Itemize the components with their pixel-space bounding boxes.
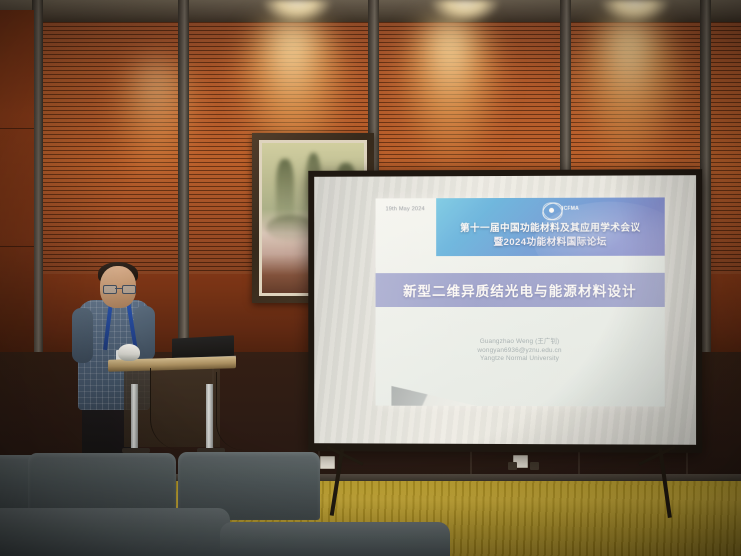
wall-socket-dark-1 xyxy=(508,462,517,470)
icfma-orbit-logo: ICFMA xyxy=(540,202,578,220)
lectern-leg-right xyxy=(206,384,213,450)
wall-light-pool-4 xyxy=(108,60,204,180)
sofa-seat-front-left xyxy=(0,508,230,556)
conference-banner-line1: 第十一届中国功能材料及其应用学术会议 xyxy=(436,220,665,235)
slide-corner-decoration xyxy=(391,376,477,406)
author-affiliation: Yangtze Normal University xyxy=(376,355,665,364)
slide-title-band: 新型二维异质结光电与能源材料设计 xyxy=(376,273,665,307)
wall-light-pool-3 xyxy=(572,16,687,166)
sofa-seat-front-right xyxy=(220,522,450,556)
wall-socket-dark-2 xyxy=(530,462,539,470)
projector-screen-surface: 19th May 2024 ICFMA 第十一届中国功能材料及其应用学术会议 暨… xyxy=(314,175,696,445)
conference-banner: ICFMA 第十一届中国功能材料及其应用学术会议 暨2024功能材料国际论坛 xyxy=(436,197,665,256)
slide-date: 19th May 2024 xyxy=(385,206,424,212)
projected-slide: 19th May 2024 ICFMA 第十一届中国功能材料及其应用学术会议 暨… xyxy=(376,197,665,406)
icfma-logo-text: ICFMA xyxy=(562,206,579,212)
slide-author-block: Guangzhao Weng (王广钊) wongyan6936@yznu.ed… xyxy=(376,338,665,364)
author-name: Guangzhao Weng (王广钊) xyxy=(376,338,665,347)
wall-light-pool-2 xyxy=(395,16,505,166)
lectern-leg-left xyxy=(131,384,138,450)
microphone-head xyxy=(118,344,140,361)
wall-pilaster-2 xyxy=(178,0,189,352)
projector-screen-assembly: 19th May 2024 ICFMA 第十一届中国功能材料及其应用学术会议 暨… xyxy=(307,170,701,460)
podium-cable-2 xyxy=(216,372,243,450)
slide-title: 新型二维异质结光电与能源材料设计 xyxy=(403,280,637,300)
conference-banner-line2: 暨2024功能材料国际论坛 xyxy=(436,234,665,249)
eyeglasses-icon xyxy=(103,285,134,292)
presenter-left-sleeve xyxy=(72,308,93,363)
projector-screen-frame: 19th May 2024 ICFMA 第十一届中国功能材料及其应用学术会议 暨… xyxy=(308,169,702,453)
left-side-wall xyxy=(0,10,34,360)
lecture-hall-photo: 19th May 2024 ICFMA 第十一届中国功能材料及其应用学术会议 暨… xyxy=(0,0,741,556)
author-email: wongyan6936@yznu.edu.cn xyxy=(376,346,665,355)
